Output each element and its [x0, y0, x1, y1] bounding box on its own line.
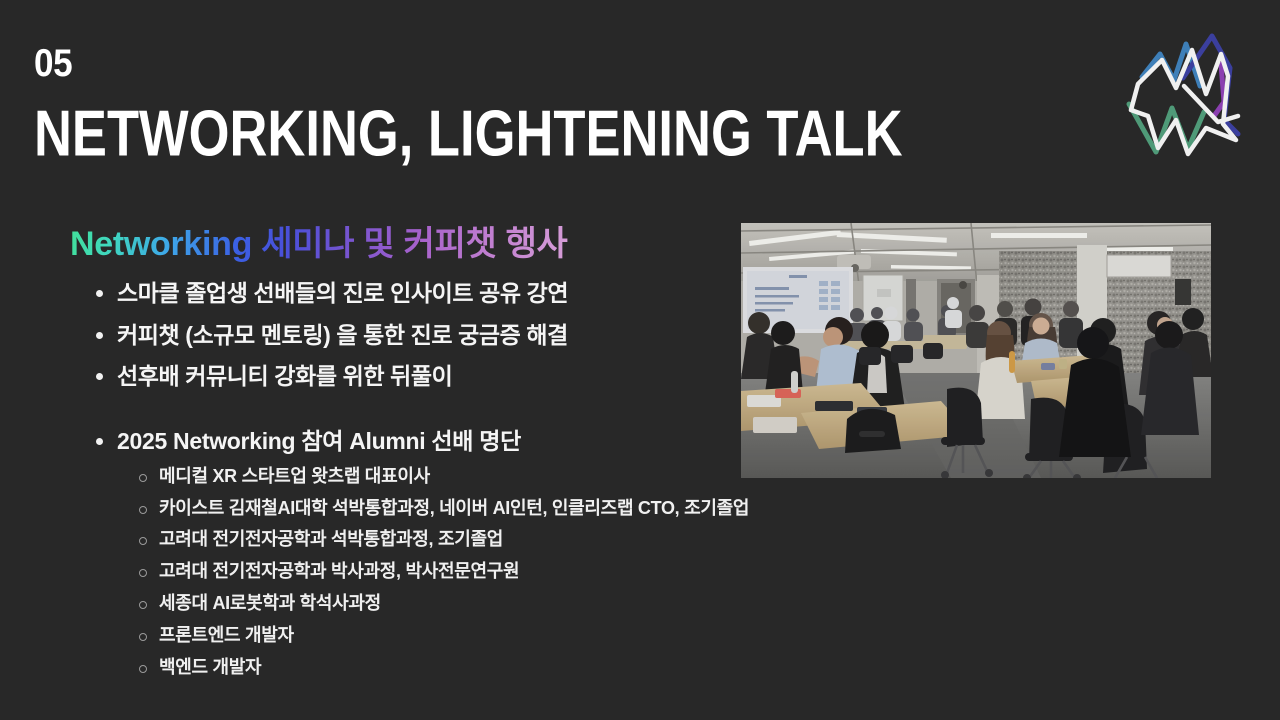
- alumni-heading: 2025 Networking 참여 Alumni 선배 명단: [117, 425, 521, 458]
- alumni-item-text: 백엔드 개발자: [159, 655, 261, 681]
- bullet-dot-icon: [96, 332, 103, 339]
- bullet-text: 선후배 커뮤니티 강화를 위한 뒤풀이: [117, 360, 452, 393]
- bullet-text: 스마클 졸업생 선배들의 진로 인사이트 공유 강연: [117, 277, 568, 310]
- bullet-dot-icon: [96, 290, 103, 297]
- alumni-item-text: 메디컬 XR 스타트업 왓츠랩 대표이사: [159, 464, 430, 490]
- list-item: 고려대 전기전자공학과 석박통합과정, 조기졸업: [139, 527, 1096, 553]
- alumni-item-text: 카이스트 김재철AI대학 석박통합과정, 네이버 AI인턴, 인클리즈랩 CTO…: [159, 496, 749, 522]
- list-item: 카이스트 김재철AI대학 석박통합과정, 네이버 AI인턴, 인클리즈랩 CTO…: [139, 496, 1096, 522]
- alumni-item-text: 세종대 AI로봇학과 학석사과정: [159, 591, 381, 617]
- hollow-bullet-icon: [139, 569, 147, 577]
- networking-seminar-photo: [741, 223, 1211, 478]
- bullet-text: 커피챗 (소규모 멘토링) 을 통한 진로 궁금증 해결: [117, 319, 568, 352]
- list-item: 세종대 AI로봇학과 학석사과정: [139, 591, 1096, 617]
- bullet-dot-icon: [96, 373, 103, 380]
- list-item: 고려대 전기전자공학과 박사과정, 박사전문연구원: [139, 559, 1096, 585]
- alumni-item-text: 고려대 전기전자공학과 석박통합과정, 조기졸업: [159, 527, 503, 553]
- list-item: 스마클 졸업생 선배들의 진로 인사이트 공유 강연: [96, 277, 716, 310]
- section-number: 05: [34, 44, 72, 83]
- list-item: 프론트엔드 개발자: [139, 623, 1096, 649]
- hollow-bullet-icon: [139, 665, 147, 673]
- list-item: 백엔드 개발자: [139, 655, 1096, 681]
- bullet-dot-icon: [96, 438, 103, 445]
- hollow-bullet-icon: [139, 601, 147, 609]
- page-title: NETWORKING, LIGHTENING TALK: [34, 101, 903, 166]
- content-heading: Networking 세미나 및 커피챗 행사: [70, 224, 568, 265]
- hollow-bullet-icon: [139, 633, 147, 641]
- alumni-list: 메디컬 XR 스타트업 왓츠랩 대표이사 카이스트 김재철AI대학 석박통합과정…: [139, 464, 1096, 681]
- list-item: 커피챗 (소규모 멘토링) 을 통한 진로 궁금증 해결: [96, 319, 716, 352]
- hollow-bullet-icon: [139, 506, 147, 514]
- bullet-list: 스마클 졸업생 선배들의 진로 인사이트 공유 강연 커피챗 (소규모 멘토링)…: [96, 277, 716, 402]
- alumni-item-text: 고려대 전기전자공학과 박사과정, 박사전문연구원: [159, 559, 519, 585]
- slide-root: 05 NETWORKING, LIGHTENING TALK Networkin…: [0, 0, 1280, 720]
- hollow-bullet-icon: [139, 474, 147, 482]
- list-item: 선후배 커뮤니티 강화를 위한 뒤풀이: [96, 360, 716, 393]
- alumni-item-text: 프론트엔드 개발자: [159, 623, 294, 649]
- hollow-bullet-icon: [139, 537, 147, 545]
- wk-star-logo: [1126, 24, 1258, 172]
